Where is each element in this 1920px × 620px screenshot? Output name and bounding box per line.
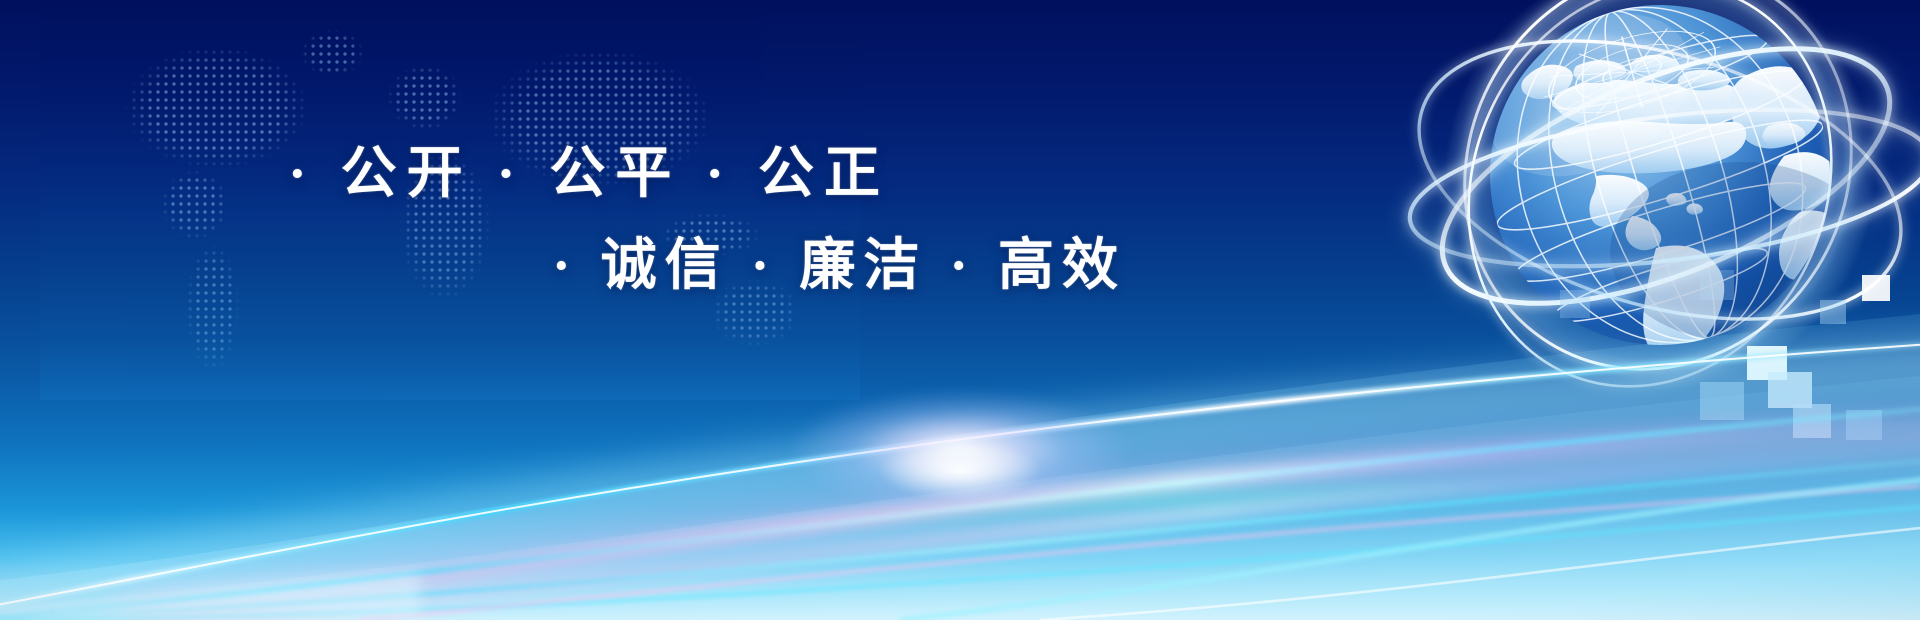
wave-pink-ribbon xyxy=(160,418,1920,620)
slogan-block: · 公开 · 公平 · 公正 · 诚信 · 廉洁 · 高效 xyxy=(0,0,1920,620)
dotmap-region-south-america xyxy=(170,225,265,390)
dotmap-region-central-america xyxy=(145,160,245,250)
wave-main-arc xyxy=(0,342,1920,610)
wave-glow-core xyxy=(790,390,1130,510)
dotmap-region-north-america xyxy=(90,40,320,190)
globe-grid xyxy=(1476,0,1843,379)
dotmap-region-europe xyxy=(370,50,480,145)
wave-glow-hotspot xyxy=(880,440,1040,500)
dotmap-region-greenland xyxy=(285,18,380,88)
dotmap-fade-overlay xyxy=(40,10,860,400)
slogan-line-1: · 公开 · 公平 · 公正 xyxy=(288,146,890,202)
wave-left-wedge xyxy=(0,572,420,620)
slogan-line-2: · 诚信 · 廉洁 · 高效 xyxy=(552,238,1126,294)
accent-square-7 xyxy=(1820,300,1846,324)
globe-graphic xyxy=(1370,0,1920,450)
globe-sphere xyxy=(1490,5,1830,345)
accent-square-4 xyxy=(1793,404,1831,438)
accent-square-3 xyxy=(1700,382,1744,420)
accent-square-6 xyxy=(1862,275,1890,301)
wave-teal-band xyxy=(820,491,1600,532)
accent-square-2 xyxy=(1768,372,1812,408)
dotted-world-map xyxy=(40,10,860,400)
wave-sheet xyxy=(0,314,1920,620)
globe-orbit-rings xyxy=(1387,0,1920,445)
vignette-overlay xyxy=(0,0,1920,620)
globe-halo xyxy=(1445,0,1875,390)
light-wave-graphic xyxy=(0,280,1920,620)
accent-square-5 xyxy=(1846,410,1882,440)
wave-cyan-arc xyxy=(0,406,1920,620)
globe-polar-net xyxy=(1533,11,1730,132)
accent-square-8 xyxy=(1560,290,1590,318)
globe-sheen xyxy=(1461,0,1874,342)
accent-square-9 xyxy=(1700,270,1734,300)
banner-root: · 公开 · 公平 · 公正 · 诚信 · 廉洁 · 高效 xyxy=(0,0,1920,620)
